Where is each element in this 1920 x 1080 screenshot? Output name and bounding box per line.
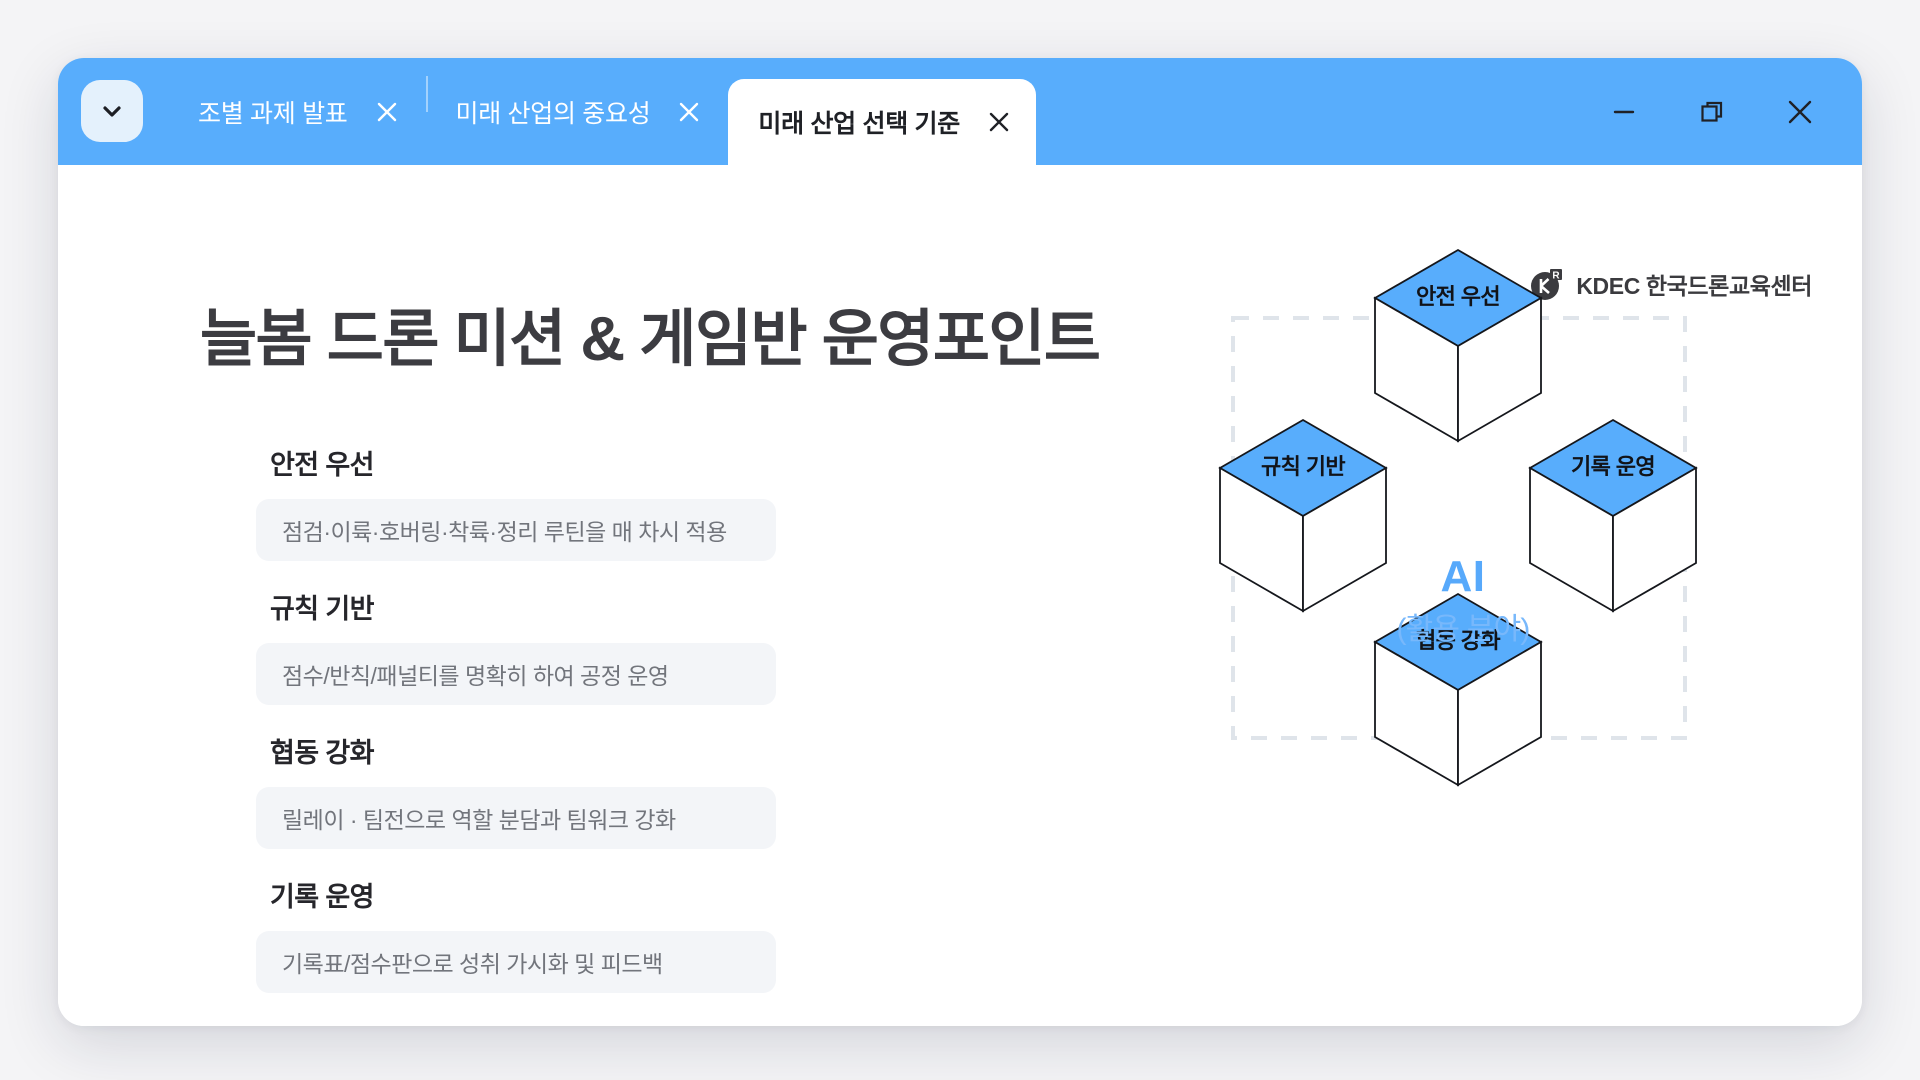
tab-close-icon[interactable] xyxy=(676,99,702,125)
page-title: 늘봄 드론 미션 & 게임반 운영포인트 xyxy=(200,288,1099,378)
point-description: 점수/반칙/패널티를 명확히 하여 공정 운영 xyxy=(256,643,776,705)
cube-left-label: 규칙 기반 xyxy=(1261,454,1345,479)
point-title: 협동 강화 xyxy=(256,731,776,770)
point-description: 점검·이륙·호버링·착륙·정리 루틴을 매 차시 적용 xyxy=(256,499,776,561)
point-title: 규칙 기반 xyxy=(256,587,776,626)
close-icon xyxy=(1784,96,1816,128)
tab-item-0[interactable]: 조별 과제 발표 xyxy=(170,58,426,165)
isometric-cube-diagram: 안전 우선 규칙 기반 기록 운영 협동 강화 xyxy=(1078,188,1838,888)
cube-right: 기록 운영 xyxy=(1530,420,1696,611)
point-item: 안전 우선 점검·이륙·호버링·착륙·정리 루틴을 매 차시 적용 xyxy=(256,443,776,561)
tab-item-1[interactable]: 미래 산업의 중요성 xyxy=(428,58,729,165)
app-window: 조별 과제 발표 미래 산업의 중요성 미래 산업 선택 기준 xyxy=(58,58,1862,1026)
menu-chevron-button[interactable] xyxy=(81,80,143,142)
cube-bottom: 협동 강화 xyxy=(1375,594,1541,785)
window-controls xyxy=(1602,58,1822,165)
points-list: 안전 우선 점검·이륙·호버링·착륙·정리 루틴을 매 차시 적용 규칙 기반 … xyxy=(256,443,776,1019)
chevron-down-icon xyxy=(98,97,126,125)
cube-bottom-label: 협동 강화 xyxy=(1416,628,1500,653)
tab-label: 미래 산업 선택 기준 xyxy=(758,104,960,140)
tab-label: 조별 과제 발표 xyxy=(198,94,348,130)
point-title: 안전 우선 xyxy=(256,443,776,482)
restore-icon xyxy=(1697,97,1727,127)
cube-left: 규칙 기반 xyxy=(1220,420,1386,611)
maximize-button[interactable] xyxy=(1690,90,1734,134)
tab-item-2-active[interactable]: 미래 산업 선택 기준 xyxy=(728,79,1036,165)
tab-close-icon[interactable] xyxy=(374,99,400,125)
point-item: 협동 강화 릴레이 · 팀전으로 역할 분담과 팀워크 강화 xyxy=(256,731,776,849)
cube-right-label: 기록 운영 xyxy=(1571,454,1655,479)
cube-top: 안전 우선 xyxy=(1375,250,1541,441)
point-item: 기록 운영 기록표/점수판으로 성취 가시화 및 피드백 xyxy=(256,875,776,993)
minimize-icon xyxy=(1609,97,1639,127)
point-description: 기록표/점수판으로 성취 가시화 및 피드백 xyxy=(256,931,776,993)
point-item: 규칙 기반 점수/반칙/패널티를 명확히 하여 공정 운영 xyxy=(256,587,776,705)
point-title: 기록 운영 xyxy=(256,875,776,914)
point-description: 릴레이 · 팀전으로 역할 분담과 팀워크 강화 xyxy=(256,787,776,849)
tab-label: 미래 산업의 중요성 xyxy=(456,94,651,130)
tab-strip: 조별 과제 발표 미래 산업의 중요성 미래 산업 선택 기준 xyxy=(58,58,1862,165)
cube-top-label: 안전 우선 xyxy=(1416,284,1500,309)
tab-list: 조별 과제 발표 미래 산업의 중요성 미래 산업 선택 기준 xyxy=(170,58,1036,165)
minimize-button[interactable] xyxy=(1602,90,1646,134)
tab-close-icon[interactable] xyxy=(986,109,1012,135)
close-button[interactable] xyxy=(1778,90,1822,134)
